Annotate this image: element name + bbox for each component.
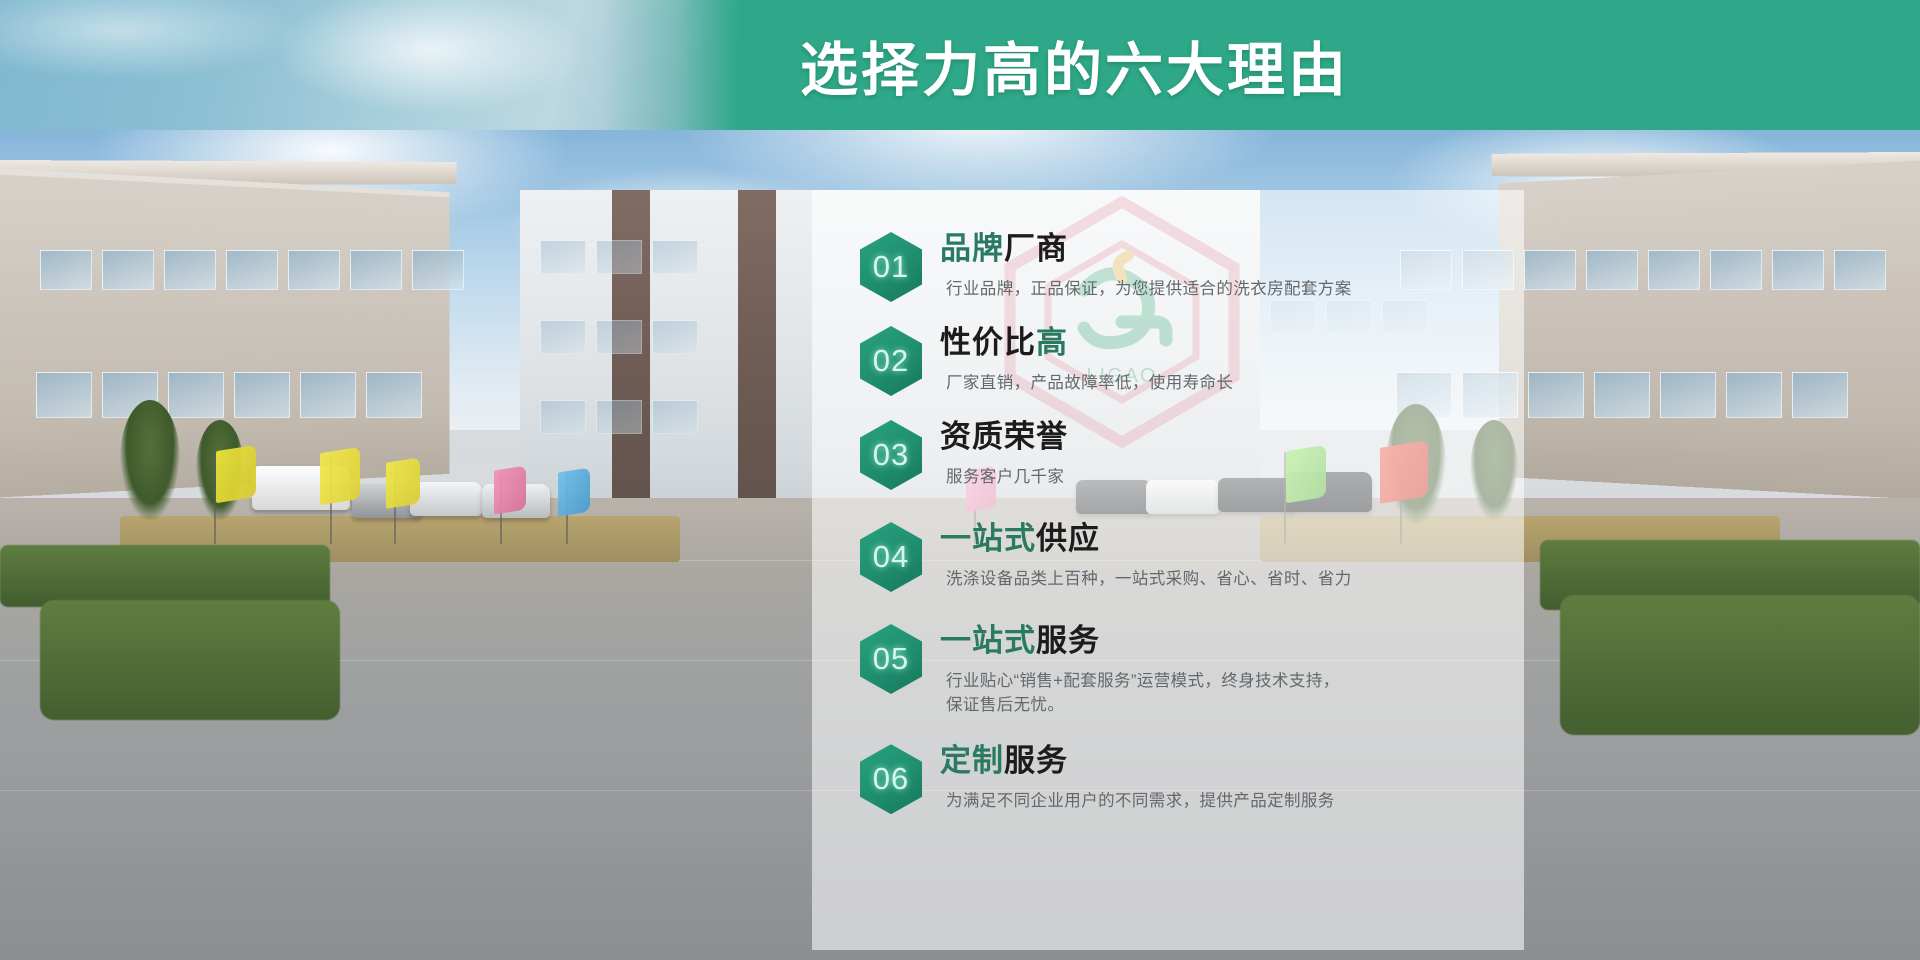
feature-text-column-06: 定制服务 为满足不同企业用户的不同需求，提供产品定制服务	[940, 742, 1480, 813]
hexagon-badge-02: 02	[860, 326, 922, 396]
feature-desc-line-2: 保证售后无忧。	[946, 693, 1480, 718]
hexagon-shape-icon: 05	[860, 624, 922, 694]
hexagon-shape-icon: 06	[860, 744, 922, 814]
feature-item-02[interactable]: 02 性价比高 厂家直销，产品故障率低，使用寿命长	[860, 324, 1480, 396]
feature-text-column-05: 一站式服务 行业贴心“销售+配套服务”运营模式，终身技术支持， 保证售后无忧。	[940, 622, 1480, 718]
feature-desc-04: 洗涤设备品类上百种，一站式采购、省心、省时、省力	[946, 567, 1480, 592]
feature-title-dark: 资质荣誉	[940, 419, 1068, 454]
hexagon-badge-04: 04	[860, 522, 922, 592]
header-bar: 选择力高的六大理由	[0, 0, 1920, 130]
feature-title-01: 品牌厂商	[940, 232, 1480, 267]
feature-title-05: 一站式服务	[940, 624, 1480, 659]
hexagon-badge-03: 03	[860, 420, 922, 490]
feature-desc-line-1: 为满足不同企业用户的不同需求，提供产品定制服务	[946, 792, 1335, 810]
feature-title-06: 定制服务	[940, 744, 1480, 779]
feature-title-green: 一站式	[940, 521, 1036, 556]
hexagon-badge-01: 01	[860, 232, 922, 302]
feature-desc-line-1: 行业品牌，正品保证，为您提供适合的洗衣房配套方案	[946, 280, 1352, 298]
feature-desc-line-1: 厂家直销，产品故障率低，使用寿命长	[946, 374, 1233, 392]
feature-item-03[interactable]: 03 资质荣誉 服务客户几千家	[860, 418, 1480, 490]
feature-text-column-04: 一站式供应 洗涤设备品类上百种，一站式采购、省心、省时、省力	[940, 520, 1480, 591]
hexagon-shape-icon: 04	[860, 522, 922, 592]
feature-title-dark: 性价比	[940, 325, 1036, 360]
feature-item-06[interactable]: 06 定制服务 为满足不同企业用户的不同需求，提供产品定制服务	[860, 742, 1480, 814]
feature-title-green: 品牌	[940, 231, 1004, 266]
feature-number: 04	[873, 539, 909, 575]
feature-title-green: 一站式	[940, 623, 1036, 658]
feature-desc-line-1: 行业贴心“销售+配套服务”运营模式，终身技术支持，	[946, 672, 1340, 690]
feature-title-green: 高	[1036, 325, 1068, 360]
feature-title-dark: 服务	[1036, 623, 1100, 658]
page-title: 选择力高的六大理由	[800, 0, 1349, 130]
header-gradient-fade	[600, 0, 740, 130]
feature-title-green: 定制	[940, 743, 1004, 778]
feature-desc-line-1: 洗涤设备品类上百种，一站式采购、省心、省时、省力	[946, 570, 1352, 588]
feature-desc-01: 行业品牌，正品保证，为您提供适合的洗衣房配套方案	[946, 277, 1480, 302]
feature-desc-03: 服务客户几千家	[946, 465, 1480, 490]
feature-item-04[interactable]: 04 一站式供应 洗涤设备品类上百种，一站式采购、省心、省时、省力	[860, 520, 1480, 592]
feature-desc-line-1: 服务客户几千家	[946, 468, 1064, 486]
feature-number: 03	[873, 437, 909, 473]
feature-text-column-02: 性价比高 厂家直销，产品故障率低，使用寿命长	[940, 324, 1480, 395]
feature-title-02: 性价比高	[940, 326, 1480, 361]
feature-item-05[interactable]: 05 一站式服务 行业贴心“销售+配套服务”运营模式，终身技术支持， 保证售后无…	[860, 622, 1480, 718]
hexagon-shape-icon: 01	[860, 232, 922, 302]
feature-desc-06: 为满足不同企业用户的不同需求，提供产品定制服务	[946, 789, 1480, 814]
features-panel: LIGAO 01 品牌厂商 行业品牌，正品保证，为您提供适合的洗衣房配套方案	[812, 190, 1524, 950]
feature-number: 02	[873, 343, 909, 379]
feature-desc-02: 厂家直销，产品故障率低，使用寿命长	[946, 371, 1480, 396]
hexagon-shape-icon: 02	[860, 326, 922, 396]
feature-title-dark: 供应	[1036, 521, 1100, 556]
feature-title-dark: 服务	[1004, 743, 1068, 778]
hexagon-badge-06: 06	[860, 744, 922, 814]
feature-item-01[interactable]: 01 品牌厂商 行业品牌，正品保证，为您提供适合的洗衣房配套方案	[860, 230, 1480, 302]
feature-title-03: 资质荣誉	[940, 420, 1480, 455]
feature-number: 06	[873, 761, 909, 797]
hexagon-shape-icon: 03	[860, 420, 922, 490]
features-list: 01 品牌厂商 行业品牌，正品保证，为您提供适合的洗衣房配套方案 02	[812, 190, 1524, 950]
feature-text-column-01: 品牌厂商 行业品牌，正品保证，为您提供适合的洗衣房配套方案	[940, 230, 1480, 301]
hexagon-badge-05: 05	[860, 624, 922, 694]
banner-stage: 选择力高的六大理由 LIGAO 01 品牌厂商	[0, 0, 1920, 960]
feature-desc-05: 行业贴心“销售+配套服务”运营模式，终身技术支持， 保证售后无忧。	[946, 669, 1480, 719]
feature-number: 05	[873, 641, 909, 677]
feature-title-dark: 厂商	[1004, 231, 1068, 266]
feature-text-column-03: 资质荣誉 服务客户几千家	[940, 418, 1480, 489]
feature-title-04: 一站式供应	[940, 522, 1480, 557]
feature-number: 01	[873, 249, 909, 285]
